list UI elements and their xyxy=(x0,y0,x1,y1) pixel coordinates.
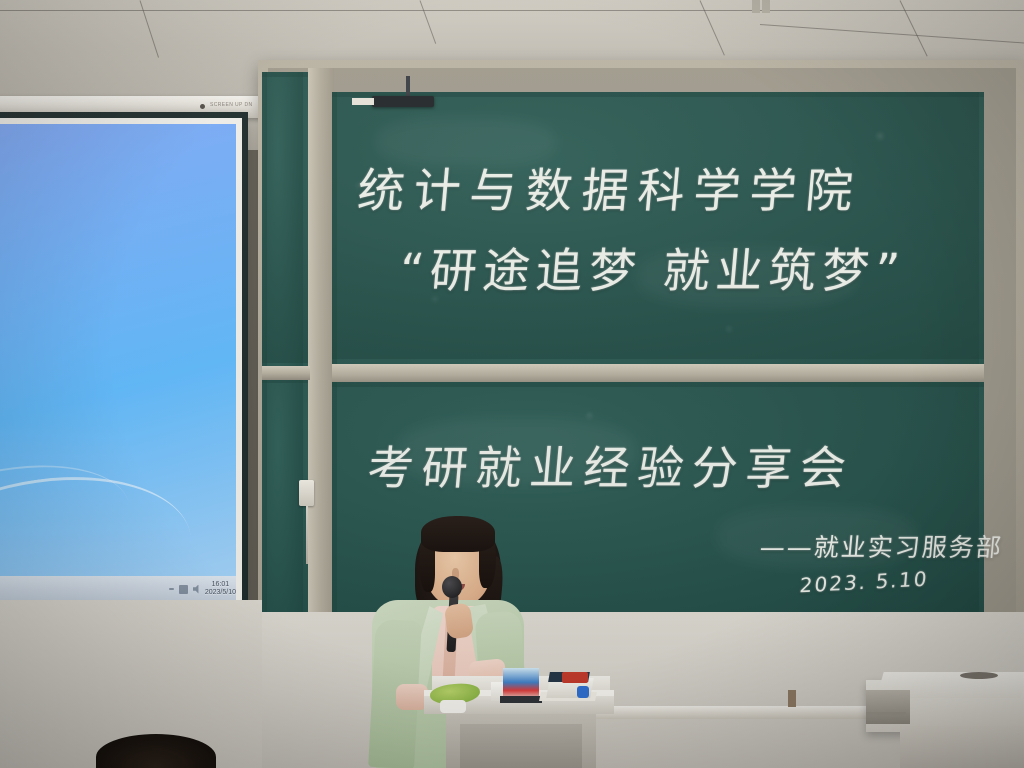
board-sensor-label xyxy=(352,98,374,105)
chalkboard-panel-left-top[interactable] xyxy=(262,72,308,368)
console-side-opening xyxy=(866,690,910,724)
chalk-box-base xyxy=(500,696,542,703)
console-shelf-line xyxy=(866,712,906,715)
blue-pen-cap[interactable] xyxy=(577,686,589,698)
chalkboard-divider-vertical xyxy=(308,68,334,646)
speaker-hand xyxy=(444,602,474,639)
clock-time: 16:01 xyxy=(205,581,236,590)
taskbar-clock[interactable]: 16:01 2023/5/10 xyxy=(205,581,236,598)
board-line-slogan: “研途追梦 就业筑梦” xyxy=(397,232,909,301)
screen-control-panel[interactable]: SCREEN UP DN xyxy=(200,102,264,112)
console-cable-hole-icon xyxy=(960,672,998,679)
rail-bracket xyxy=(752,0,760,13)
network-icon[interactable] xyxy=(179,585,188,594)
screen-case-label: SCREEN UP DN xyxy=(210,102,253,108)
projected-desktop[interactable]: 16:01 2023/5/10 xyxy=(0,124,236,602)
clock-date: 2023/5/10 xyxy=(205,589,236,598)
tissue-item[interactable] xyxy=(440,700,466,713)
system-tray[interactable] xyxy=(169,585,201,594)
show-desktop-icon[interactable] xyxy=(169,588,174,590)
board-sensor-icon xyxy=(372,96,434,107)
volume-icon[interactable] xyxy=(193,585,201,594)
board-signature: ——就业实习服务部 xyxy=(758,528,1004,564)
classroom-photo: SCREEN UP DN 16:01 2023/5/10 xyxy=(0,0,1024,768)
chalkboard-panel-left-bottom[interactable] xyxy=(262,378,308,646)
speaker-hair-front xyxy=(421,516,495,552)
microphone-icon xyxy=(442,576,462,598)
console-lower-body xyxy=(900,726,1024,768)
switch-pull-cord[interactable] xyxy=(306,506,308,564)
rail-bracket xyxy=(762,0,770,13)
board-device-stem xyxy=(406,76,410,98)
chalkboard-divider-horizontal xyxy=(332,364,984,384)
podium-panel xyxy=(460,724,582,768)
board-line-event-title: 考研就业经验分享会 xyxy=(365,432,857,498)
windows-taskbar[interactable]: 16:01 2023/5/10 xyxy=(0,576,236,602)
chalkboard-divider-horizontal-left xyxy=(262,366,310,380)
red-item[interactable] xyxy=(562,672,588,683)
board-light-switch[interactable] xyxy=(299,480,314,506)
screen-indicator-icon xyxy=(200,104,205,109)
rail-peg xyxy=(788,690,796,707)
chalkboard-panel-main-top[interactable] xyxy=(332,92,984,364)
board-line-department: 统计与数据科学学院 xyxy=(355,152,865,221)
